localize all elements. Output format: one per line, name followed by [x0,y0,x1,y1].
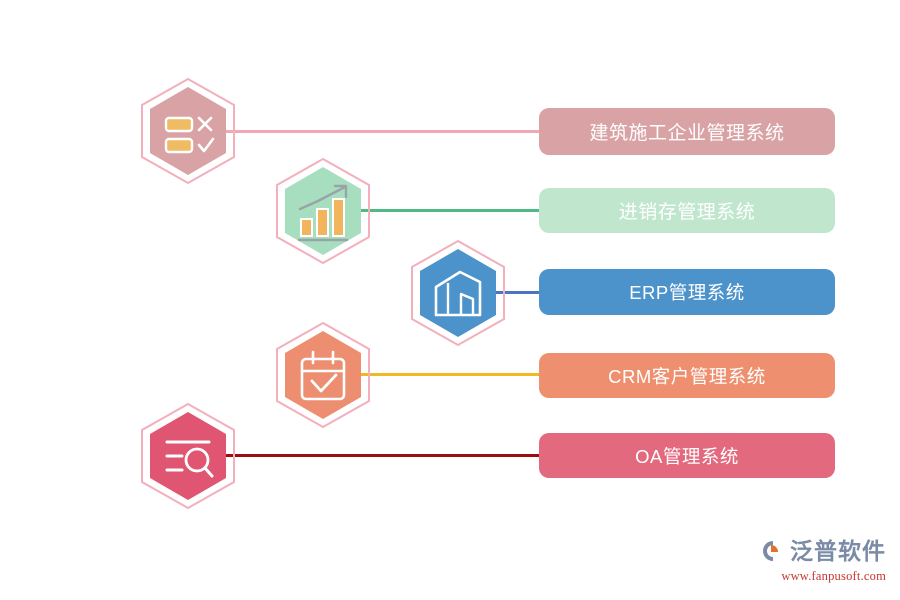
connector-line-inventory [354,209,542,212]
hex-group-crm[interactable] [273,321,373,429]
fanpu-logo-icon [759,537,787,565]
label-text-erp: ERP管理系统 [629,279,745,305]
hexagon-fill [273,321,373,429]
label-text-inventory: 进销存管理系统 [619,197,756,224]
watermark-brand: 泛普软件 [790,540,886,563]
label-pill-oa[interactable]: OA管理系统 [539,433,835,478]
label-pill-erp[interactable]: ERP管理系统 [539,269,835,315]
label-pill-inventory[interactable]: 进销存管理系统 [539,188,835,233]
watermark-url: www.fanpusoft.com [754,569,886,584]
infographic-canvas: 建筑施工企业管理系统 进销存管理系统 [0,0,900,600]
connector-line-construction [219,130,541,133]
hex-group-construction[interactable] [138,77,238,185]
hexagon-fill [408,239,508,347]
hexagon-fill [138,77,238,185]
connector-line-oa [219,454,541,457]
label-text-oa: OA管理系统 [635,443,739,469]
hex-group-inventory[interactable] [273,157,373,265]
hex-group-erp[interactable] [408,239,508,347]
label-text-crm: CRM客户管理系统 [608,363,766,389]
watermark: 泛普软件 www.fanpusoft.com [754,534,886,592]
hex-group-oa[interactable] [138,402,238,510]
hexagon-fill [273,157,373,265]
connector-line-crm [354,373,542,376]
label-pill-construction[interactable]: 建筑施工企业管理系统 [539,108,835,155]
hexagon-fill [138,402,238,510]
label-text-construction: 建筑施工企业管理系统 [589,118,784,145]
label-pill-crm[interactable]: CRM客户管理系统 [539,353,835,398]
